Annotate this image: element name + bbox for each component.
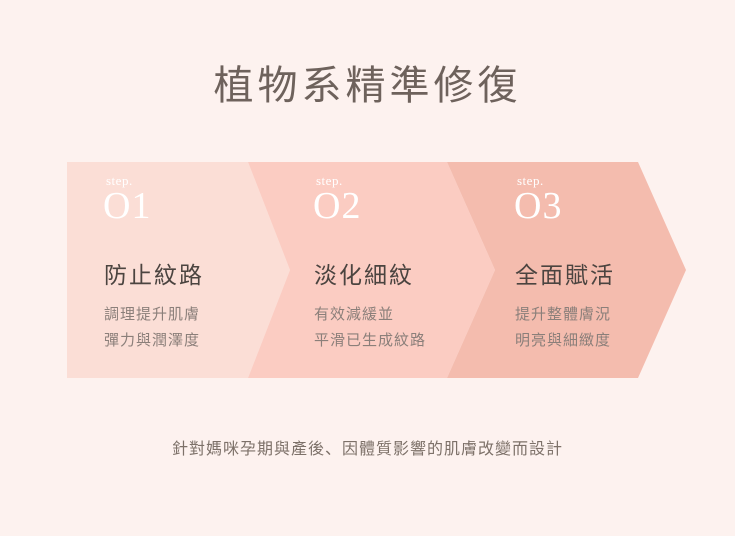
page-title: 植物系精準修復 <box>0 60 735 112</box>
step-number: O3 <box>514 187 562 225</box>
poster-root: 植物系精準修復 step. O1 防止紋路 調理提升肌膚 彈力與潤澤度 step… <box>0 0 735 536</box>
footer-caption: 針對媽咪孕期與產後、因體質影響的肌膚改變而設計 <box>0 435 735 459</box>
step-item-1: step. O1 防止紋路 調理提升肌膚 彈力與潤澤度 <box>100 162 300 378</box>
step-heading: 全面賦活 <box>515 256 615 290</box>
step-item-3: step. O3 全面賦活 提升整體膚況 明亮與細緻度 <box>511 162 711 378</box>
step-item-2: step. O2 淡化細紋 有效減緩並 平滑已生成紋路 <box>310 162 510 378</box>
steps-chevron-band: step. O1 防止紋路 調理提升肌膚 彈力與潤澤度 step. O2 淡化細… <box>0 162 735 378</box>
step-description: 提升整體膚況 明亮與細緻度 <box>515 302 611 355</box>
step-number: O2 <box>313 187 361 225</box>
step-description: 有效減緩並 平滑已生成紋路 <box>314 302 426 355</box>
step-number: O1 <box>103 187 151 225</box>
step-heading: 淡化細紋 <box>314 256 414 290</box>
step-heading: 防止紋路 <box>104 256 204 290</box>
step-description: 調理提升肌膚 彈力與潤澤度 <box>104 302 200 355</box>
